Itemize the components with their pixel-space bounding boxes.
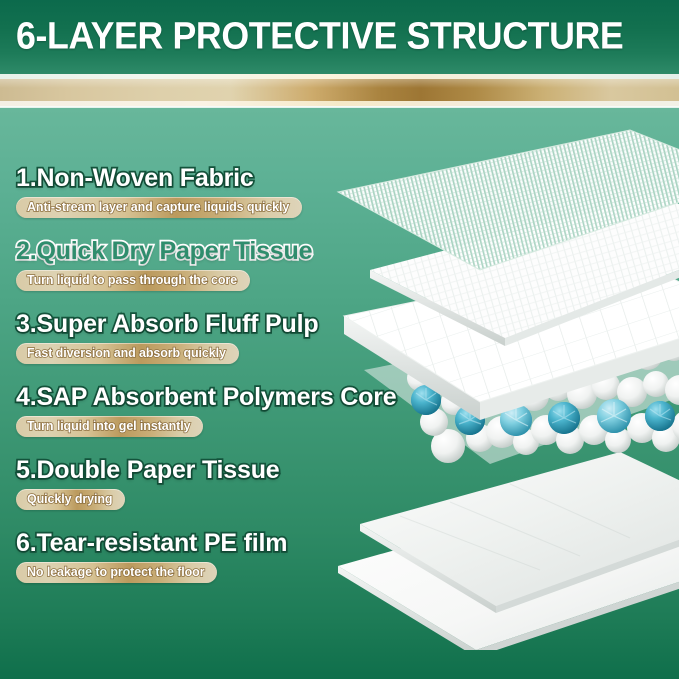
gold-divider [0, 74, 679, 110]
gold-divider-band [0, 79, 679, 101]
layer-title-5: 5.Double Paper Tissue [16, 458, 280, 483]
header-band: 6-LAYER PROTECTIVE STRUCTURE [0, 0, 679, 74]
layer-subtitle-4: Turn liquid into gel instantly [16, 416, 203, 437]
layer-subtitle-3: Fast diversion and absorb quickly [16, 343, 239, 364]
layer-item-4: 4.SAP Absorbent Polymers Core Turn liqui… [16, 385, 396, 437]
layer-item-5: 5.Double Paper Tissue Quickly drying [16, 458, 280, 510]
layer-item-3: 3.Super Absorb Fluff Pulp Fast diversion… [16, 312, 318, 364]
infographic-poster: 6-LAYER PROTECTIVE STRUCTURE [0, 0, 679, 679]
layer-title-1: 1.Non-Woven Fabric [16, 166, 302, 191]
page-title: 6-LAYER PROTECTIVE STRUCTURE [16, 16, 623, 59]
layer-title-3: 3.Super Absorb Fluff Pulp [16, 312, 318, 337]
layer-subtitle-2: Turn liquid to pass through the core [16, 270, 250, 291]
layer-title-2: 2.Quick Dry Paper Tissue [16, 239, 312, 264]
layer-subtitle-6: No leakage to protect the floor [16, 562, 217, 583]
layer-item-2: 2.Quick Dry Paper Tissue Turn liquid to … [16, 239, 312, 291]
layer-title-4: 4.SAP Absorbent Polymers Core [16, 385, 396, 410]
layer-item-6: 6.Tear-resistant PE film No leakage to p… [16, 531, 287, 583]
layer-title-6: 6.Tear-resistant PE film [16, 531, 287, 556]
layer-item-1: 1.Non-Woven Fabric Anti-stream layer and… [16, 166, 302, 218]
layer-subtitle-1: Anti-stream layer and capture liquids qu… [16, 197, 302, 218]
layer-subtitle-5: Quickly drying [16, 489, 125, 510]
layer-label-list: 1.Non-Woven Fabric Anti-stream layer and… [0, 108, 440, 679]
